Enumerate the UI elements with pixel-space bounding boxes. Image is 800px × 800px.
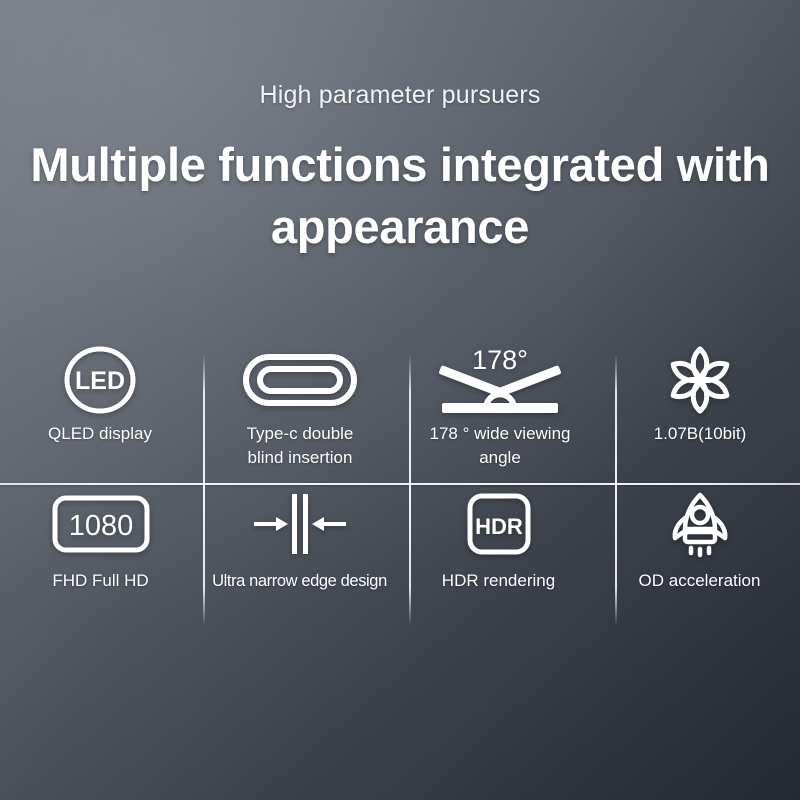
- feature-label-full-hd: FHD Full HD: [52, 569, 148, 593]
- resolution-1080-icon: 1080: [49, 489, 153, 559]
- feature-grid: LED QLED display Type-c double blind ins…: [0, 338, 800, 638]
- feature-label-viewing-angle: 178 ° wide viewing angle: [430, 422, 571, 470]
- feature-label-hdr: HDR rendering: [442, 569, 555, 593]
- feature-label-narrow-bezel: Ultra narrow edge design: [212, 569, 387, 593]
- feature-cell-full-hd: 1080 FHD Full HD: [0, 483, 201, 638]
- feature-cell-viewing-angle: 178° 178 ° wide viewing angle: [400, 338, 600, 483]
- feature-label-color-depth: 1.07B(10bit): [654, 422, 747, 446]
- grid-horizontal-divider: [0, 483, 800, 485]
- viewing-angle-icon: 178°: [430, 344, 570, 416]
- led-circle-icon: LED: [57, 344, 143, 416]
- feature-poster: High parameter pursuers Multiple functio…: [0, 0, 800, 800]
- page-title: Multiple functions integrated with appea…: [0, 134, 800, 258]
- feature-cell-type-c: Type-c double blind insertion: [200, 338, 400, 483]
- feature-row-bottom: 1080 FHD Full HD: [0, 483, 800, 638]
- feature-label-od-acceleration: OD acceleration: [639, 569, 761, 593]
- grid-vertical-divider-3: [615, 354, 617, 626]
- viewing-angle-icon-text: 178°: [472, 345, 528, 375]
- grid-vertical-divider-1: [203, 354, 205, 626]
- feature-cell-narrow-bezel: Ultra narrow edge design: [201, 483, 398, 638]
- color-petals-icon: [660, 344, 740, 416]
- eyebrow-text: High parameter pursuers: [0, 78, 800, 112]
- hdr-badge-icon: HDR: [462, 489, 536, 559]
- feature-label-type-c: Type-c double blind insertion: [247, 422, 354, 470]
- feature-cell-hdr: HDR HDR rendering: [398, 483, 599, 638]
- feature-row-top: LED QLED display Type-c double blind ins…: [0, 338, 800, 483]
- narrow-bezel-icon: [238, 489, 362, 559]
- usb-type-c-icon: [240, 344, 360, 416]
- resolution-icon-text: 1080: [68, 510, 133, 542]
- feature-cell-qled-display: LED QLED display: [0, 338, 200, 483]
- header-block: High parameter pursuers Multiple functio…: [0, 78, 800, 258]
- feature-cell-color-depth: 1.07B(10bit): [600, 338, 800, 483]
- rocket-icon: [661, 489, 739, 559]
- feature-cell-od-acceleration: OD acceleration: [599, 483, 800, 638]
- grid-vertical-divider-2: [409, 354, 411, 626]
- led-icon-text: LED: [75, 367, 125, 395]
- hdr-icon-text: HDR: [475, 514, 523, 539]
- feature-label-qled-display: QLED display: [48, 422, 152, 446]
